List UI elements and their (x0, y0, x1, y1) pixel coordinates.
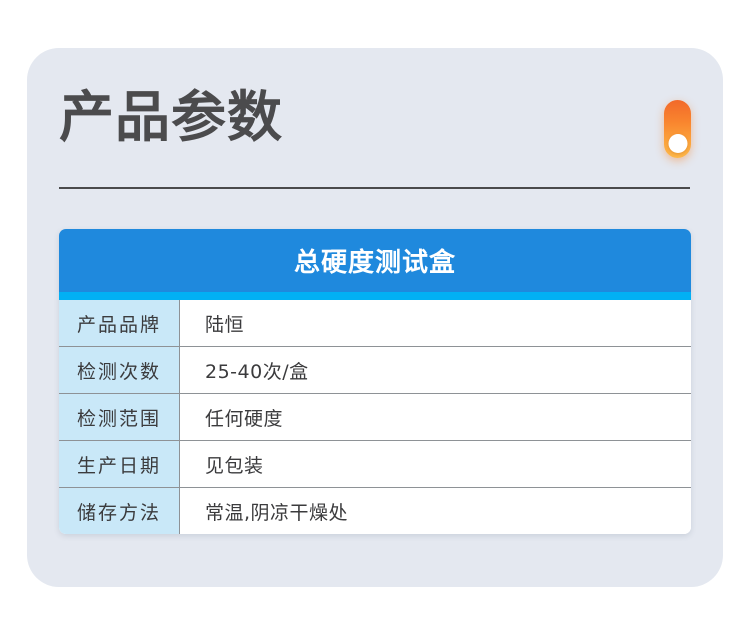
spec-label: 检测范围 (59, 394, 180, 440)
table-row: 储存方法 常温,阴凉干燥处 (59, 488, 691, 534)
table-header: 总硬度测试盒 (59, 229, 691, 292)
table-row: 检测范围 任何硬度 (59, 394, 691, 441)
table-row: 生产日期 见包装 (59, 441, 691, 488)
card-header: 产品参数 (59, 88, 691, 180)
page-title: 产品参数 (59, 90, 283, 145)
table-header-title: 总硬度测试盒 (294, 242, 456, 279)
table-header-accent-strip (59, 292, 691, 300)
spec-table: 总硬度测试盒 产品品牌 陆恒 检测次数 25-40次/盒 检测范围 任何硬度 生… (59, 229, 691, 534)
spec-value: 见包装 (180, 441, 691, 487)
spec-label: 生产日期 (59, 441, 180, 487)
spec-card: 产品参数 总硬度测试盒 产品品牌 陆恒 检测次数 25-40次/盒 (27, 48, 723, 587)
table-row: 产品品牌 陆恒 (59, 300, 691, 347)
orange-toggle-icon (664, 100, 691, 158)
spec-value: 25-40次/盒 (180, 347, 691, 393)
title-divider (59, 187, 690, 189)
spec-label: 检测次数 (59, 347, 180, 393)
toggle-knob-icon (668, 134, 687, 153)
spec-value: 任何硬度 (180, 394, 691, 440)
spec-label: 产品品牌 (59, 300, 180, 346)
table-row: 检测次数 25-40次/盒 (59, 347, 691, 394)
product-spec-page: 产品参数 总硬度测试盒 产品品牌 陆恒 检测次数 25-40次/盒 (0, 0, 750, 641)
spec-value: 陆恒 (180, 300, 691, 346)
spec-label: 储存方法 (59, 488, 180, 534)
spec-value: 常温,阴凉干燥处 (180, 488, 691, 534)
table-body: 产品品牌 陆恒 检测次数 25-40次/盒 检测范围 任何硬度 生产日期 见包装… (59, 300, 691, 534)
